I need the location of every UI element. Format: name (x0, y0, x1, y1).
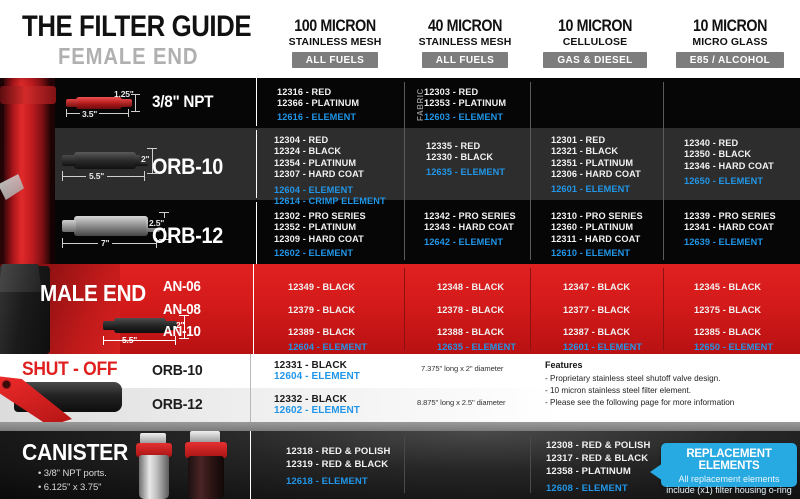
part-number: 12303 - RED (424, 87, 506, 98)
row-label-an10: AN-10 (163, 323, 201, 340)
column-divider (256, 202, 257, 264)
feature-item: - Please see the following page for more… (545, 398, 734, 407)
column-fuel-badge: ALL FUELS (292, 52, 378, 68)
part-number-element: 12608 - ELEMENT (546, 482, 650, 495)
column-divider (250, 431, 251, 499)
dimension-length-label: 7" (98, 238, 112, 248)
dimension-tick-top (159, 212, 169, 213)
page-title: THE FILTER GUIDE (22, 10, 251, 44)
column-divider (404, 437, 405, 493)
page-subtitle: FEMALE END (58, 43, 198, 70)
column-header-10-micron-microglass: 10 MICRON MICRO GLASS E85 / ALCOHOL (662, 16, 798, 68)
row-label-an06: AN-06 (163, 278, 201, 295)
part-number: 12377 - BLACK (563, 305, 630, 316)
part-number: 12306 - HARD COAT (551, 169, 641, 180)
red-filter-photo (0, 78, 55, 264)
feature-item: - 10 micron stainless steel filter eleme… (545, 386, 691, 395)
cell-orb12-shutoff-parts: 12332 - BLACK 12602 - ELEMENT (274, 394, 360, 417)
row-label-orb10: ORB-10 (152, 154, 223, 180)
part-number: 12349 - BLACK (288, 282, 355, 293)
dimension-tick-left (62, 171, 63, 181)
part-number-element: 12635 - ELEMENT (437, 342, 516, 353)
shutoff-pivot (2, 380, 11, 389)
cell-canister-10micron-cellulose: 12308 - RED & POLISH 12317 - RED & BLACK… (546, 439, 650, 495)
part-number: 12389 - BLACK (288, 327, 355, 338)
part-number: 12350 - BLACK (684, 149, 774, 160)
column-micron-label: 10 MICRON (539, 16, 652, 35)
part-number: 12347 - BLACK (563, 282, 630, 293)
part-number-element: 12642 - ELEMENT (424, 237, 516, 248)
male-end-heading: MALE END (40, 280, 146, 307)
part-number-element: 12650 - ELEMENT (694, 342, 773, 353)
part-number-crimp-element: 12614 - CRIMP ELEMENT (274, 196, 386, 207)
filter-table: 3.5" 1.25" 3/8" NPT 5.5" 2" (0, 78, 800, 499)
filter-barrel (114, 318, 166, 333)
part-number-element: 12604 - ELEMENT (274, 371, 360, 382)
part-number-element: 12601 - ELEMENT (551, 184, 641, 195)
column-divider (256, 130, 257, 198)
filter-end-left (62, 155, 76, 166)
dimension-tick-right (128, 109, 129, 117)
row-label-an08: AN-08 (163, 301, 201, 318)
row-label-orb12-shutoff: ORB-12 (152, 396, 203, 413)
canister-heading: CANISTER (22, 439, 128, 466)
part-number: 12317 - RED & BLACK (546, 452, 650, 465)
part-number-element: 12601 - ELEMENT (563, 342, 642, 353)
feature-item: - Proprietary stainless steel shutoff va… (545, 374, 721, 383)
cell-orb10-shutoff-parts: 12331 - BLACK 12604 - ELEMENT (274, 360, 360, 383)
part-number: 12332 - BLACK (274, 394, 360, 405)
part-number: 12335 - RED (426, 141, 505, 152)
column-material-label: MICRO GLASS (662, 35, 798, 49)
column-header-40-micron: 40 MICRON STAINLESS MESH ALL FUELS (400, 16, 530, 68)
cell-npt-100micron: 12316 - RED 12366 - PLATINUM 12616 - ELE… (277, 87, 359, 123)
column-divider (256, 78, 257, 126)
part-number-element: 12604 - ELEMENT (288, 342, 367, 353)
part-number: 12358 - PLATINUM (546, 465, 650, 478)
filter-barrel (74, 152, 136, 169)
column-material-label: CELLULOSE (528, 35, 662, 49)
features-title: Features (545, 360, 583, 370)
part-number: 12387 - BLACK (563, 327, 630, 338)
part-number-element: 12602 - ELEMENT (274, 405, 360, 416)
part-number: 12309 - HARD COAT (274, 234, 366, 245)
part-number: 12343 - HARD COAT (424, 222, 516, 233)
column-divider (530, 268, 531, 350)
part-number: 12360 - PLATINUM (551, 222, 643, 233)
red-cylinder-cap (0, 86, 56, 104)
part-number: 12331 - BLACK (274, 360, 360, 371)
column-divider (404, 268, 405, 350)
cell-orb10-10micron-cellulose: 12301 - RED 12321 - BLACK 12351 - PLATIN… (551, 135, 641, 195)
cell-orb12-10micron-microglass: 12339 - PRO SERIES 12341 - HARD COAT 126… (684, 211, 776, 248)
part-number: 12378 - BLACK (437, 305, 504, 316)
column-divider (530, 437, 531, 493)
part-number-element: 12650 - ELEMENT (684, 176, 774, 187)
male-end-section: MALE END 5.5" 2" AN-06 AN-08 AN-10 (0, 264, 800, 354)
row-label-orb10-shutoff: ORB-10 (152, 362, 203, 379)
canister-body (139, 455, 169, 499)
part-number: 12342 - PRO SERIES (424, 211, 516, 222)
column-header-10-micron-cellulose: 10 MICRON CELLULOSE GAS & DIESEL (528, 16, 662, 68)
dimension-diameter-label: 1.25" (114, 89, 134, 99)
canister-bullet: • 3/8" NPT ports. (38, 468, 107, 479)
part-number: 12324 - BLACK (274, 146, 386, 157)
filter-end-left (103, 321, 116, 330)
cell-orb12-100micron: 12302 - PRO SERIES 12352 - PLATINUM 1230… (274, 211, 366, 260)
part-number: 12339 - PRO SERIES (684, 211, 776, 222)
cell-canister-100micron: 12318 - RED & POLISH 12319 - RED & BLACK… (286, 445, 390, 488)
column-divider (663, 268, 664, 350)
part-number: 12379 - BLACK (288, 305, 355, 316)
part-number: 12318 - RED & POLISH (286, 445, 390, 458)
cell-orb10-100micron: 12304 - RED 12324 - BLACK 12354 - PLATIN… (274, 135, 386, 207)
part-number-element: 12618 - ELEMENT (286, 475, 390, 488)
part-number: 12348 - BLACK (437, 282, 504, 293)
part-number: 12308 - RED & POLISH (546, 439, 650, 452)
part-number: 12301 - RED (551, 135, 641, 146)
page-header: THE FILTER GUIDE FEMALE END 100 MICRON S… (0, 0, 800, 78)
dimension-length-label: 5.5" (122, 335, 137, 345)
part-number: 12311 - HARD COAT (551, 234, 643, 245)
dimension-tick-left (62, 238, 63, 248)
section-separator (0, 422, 800, 431)
filter-guide-page: THE FILTER GUIDE FEMALE END 100 MICRON S… (0, 0, 800, 499)
part-number: 12330 - BLACK (426, 152, 505, 163)
column-material-label: STAINLESS MESH (400, 35, 530, 49)
column-micron-label: 100 MICRON (277, 16, 393, 35)
column-divider (530, 82, 531, 260)
shutoff-dimension-orb12: 8.875" long x 2.5" diameter (417, 398, 505, 407)
part-number-element: 12639 - ELEMENT (684, 237, 776, 248)
canister-image-polish (130, 433, 182, 499)
part-number: 12341 - HARD COAT (684, 222, 776, 233)
dimension-length-label: 3.5" (80, 109, 99, 119)
filter-barrel (74, 216, 148, 236)
callout-line-2: include (x1) filter housing o-ring (661, 485, 797, 496)
row-label-orb12: ORB-12 (152, 223, 223, 249)
filter-end-right (120, 99, 132, 107)
dimension-line-diameter (135, 94, 136, 112)
female-end-section: 3.5" 1.25" 3/8" NPT 5.5" 2" (0, 78, 800, 264)
part-number-element: 12635 - ELEMENT (426, 167, 505, 178)
part-number: 12388 - BLACK (437, 327, 504, 338)
column-micron-label: 40 MICRON (410, 16, 519, 35)
column-fuel-badge: ALL FUELS (422, 52, 508, 68)
cell-npt-40micron: 12303 - RED 12353 - PLATINUM 12603 - ELE… (424, 87, 506, 123)
part-number: 12351 - PLATINUM (551, 158, 641, 169)
column-divider (250, 354, 251, 422)
cell-orb10-40micron: 12335 - RED 12330 - BLACK 12635 - ELEMEN… (426, 141, 505, 178)
part-number: 12346 - HARD COAT (684, 161, 774, 172)
column-divider (663, 82, 664, 260)
callout-line-1: All replacement elements (661, 474, 797, 485)
canister-bullet: • 6.125" x 3.75" (38, 482, 101, 493)
dimension-tick-bottom (131, 111, 140, 112)
callout-title: REPLACEMENT ELEMENTS (661, 448, 797, 472)
part-number-element: 12603 - ELEMENT (424, 112, 506, 123)
dimension-tick-left (103, 336, 104, 345)
part-number: 12310 - PRO SERIES (551, 211, 643, 222)
dimension-tick-top (147, 148, 157, 149)
part-number: 12307 - HARD COAT (274, 169, 386, 180)
part-number-element: 12602 - ELEMENT (274, 248, 366, 259)
part-number: 12345 - BLACK (694, 282, 761, 293)
part-number: 12340 - RED (684, 138, 774, 149)
part-number: 12366 - PLATINUM (277, 98, 359, 109)
dimension-tick-left (66, 109, 67, 117)
part-number: 12316 - RED (277, 87, 359, 98)
cell-orb10-10micron-microglass: 12340 - RED 12350 - BLACK 12346 - HARD C… (684, 138, 774, 188)
canister-body (188, 456, 224, 499)
part-number: 12385 - BLACK (694, 327, 761, 338)
part-number: 12354 - PLATINUM (274, 158, 386, 169)
column-divider (253, 264, 254, 354)
column-fuel-badge: GAS & DIESEL (543, 52, 646, 68)
row-label-npt: 3/8" NPT (152, 92, 213, 112)
column-micron-label: 10 MICRON (673, 16, 787, 35)
part-number-element: 12616 - ELEMENT (277, 112, 359, 123)
part-number: 12321 - BLACK (551, 146, 641, 157)
dimension-diameter-label: 2" (140, 154, 150, 164)
shutoff-dimension-orb10: 7.375" long x 2" diameter (421, 364, 503, 373)
dimension-length-label: 5.5" (86, 171, 107, 181)
shutoff-section: SHUT - OFF ORB-10 ORB-12 12331 - BLACK 1… (0, 354, 800, 422)
filter-end-left (66, 99, 78, 107)
dimension-tick-right (144, 171, 145, 181)
part-number: 12302 - PRO SERIES (274, 211, 366, 222)
column-material-label: STAINLESS MESH (266, 35, 404, 49)
shutoff-valve-photo (0, 370, 128, 422)
column-header-100-micron: 100 MICRON STAINLESS MESH ALL FUELS (266, 16, 404, 68)
canister-section: CANISTER • 3/8" NPT ports. • 6.125" x 3.… (0, 431, 800, 499)
column-divider (404, 82, 405, 260)
canister-image-black (178, 431, 238, 499)
part-number: 12319 - RED & BLACK (286, 458, 390, 471)
cell-orb12-10micron-cellulose: 12310 - PRO SERIES 12360 - PLATINUM 1231… (551, 211, 643, 260)
part-number: 12375 - BLACK (694, 305, 761, 316)
product-image-npt: 3.5" 1.25" (62, 88, 152, 118)
part-number: 12304 - RED (274, 135, 386, 146)
red-cylinder-body (4, 78, 50, 264)
part-number: 12353 - PLATINUM (424, 98, 506, 109)
part-number-element: 12604 - ELEMENT (274, 185, 386, 196)
cell-orb12-40micron: 12342 - PRO SERIES 12343 - HARD COAT 126… (424, 211, 516, 248)
filter-end-left (62, 220, 76, 232)
part-number: 12352 - PLATINUM (274, 222, 366, 233)
dimension-line-length (103, 340, 175, 341)
part-number-element: 12610 - ELEMENT (551, 248, 643, 259)
column-fuel-badge: E85 / ALCOHOL (676, 52, 784, 68)
replacement-elements-callout: REPLACEMENT ELEMENTS All replacement ele… (661, 443, 797, 487)
